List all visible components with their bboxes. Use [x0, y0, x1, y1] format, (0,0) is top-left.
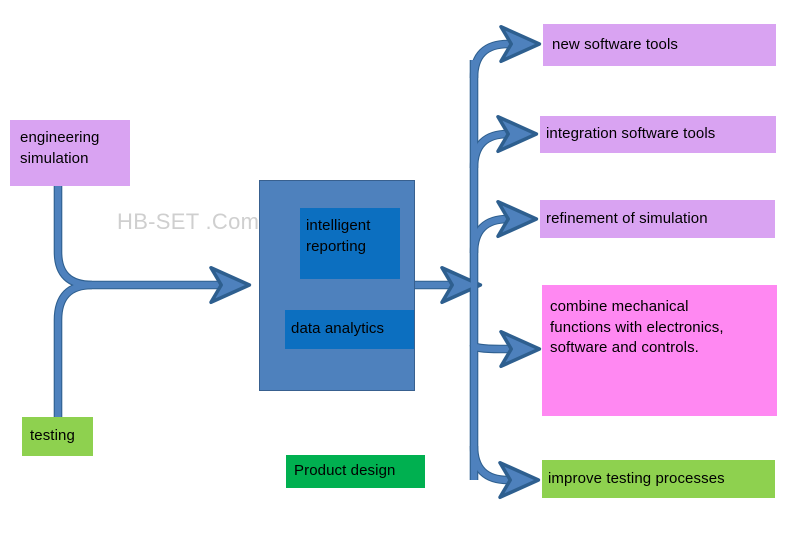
node-data-analytics[interactable]: data analytics — [285, 310, 414, 349]
node-combine-mechanical-functions-label: combine mechanical functions with electr… — [550, 297, 771, 359]
connector-to-refinement-of-simulation — [474, 219, 530, 253]
node-combine-mechanical-functions[interactable]: combine mechanical functions with electr… — [542, 285, 777, 416]
node-engineering-simulation[interactable]: engineering simulation — [10, 120, 130, 186]
diagram-canvas: HB-SET .Com engineering simulation testi… — [0, 0, 795, 535]
node-refinement-of-simulation[interactable]: refinement of simulation — [540, 200, 775, 238]
node-new-software-tools[interactable]: new software tools — [543, 24, 776, 66]
node-improve-testing-processes-label: improve testing processes — [548, 469, 775, 490]
node-engineering-simulation-label: engineering simulation — [20, 128, 120, 169]
node-product-design[interactable]: Product design — [286, 455, 425, 488]
node-testing[interactable]: testing — [22, 417, 93, 456]
node-new-software-tools-label: new software tools — [552, 35, 776, 56]
node-intelligent-reporting[interactable]: intelligent reporting — [300, 208, 400, 279]
node-testing-label: testing — [30, 426, 93, 447]
connector-to-new-software-tools — [474, 44, 533, 78]
node-intelligent-reporting-label: intelligent reporting — [306, 216, 400, 257]
connector-to-integration-software-tools — [474, 134, 530, 168]
node-integration-software-tools[interactable]: integration software tools — [540, 116, 776, 153]
node-refinement-of-simulation-label: refinement of simulation — [546, 209, 775, 230]
connector-engineering-simulation-to-central — [58, 186, 243, 285]
connector-testing-to-central — [58, 285, 92, 418]
node-improve-testing-processes[interactable]: improve testing processes — [542, 460, 775, 498]
node-integration-software-tools-label: integration software tools — [546, 124, 776, 145]
connector-to-combine-mechanical — [474, 345, 533, 349]
node-product-design-label: Product design — [294, 461, 425, 482]
connector-to-improve-testing-processes — [474, 446, 532, 480]
node-data-analytics-label: data analytics — [291, 319, 414, 340]
watermark-text: HB-SET .Com — [117, 209, 259, 235]
